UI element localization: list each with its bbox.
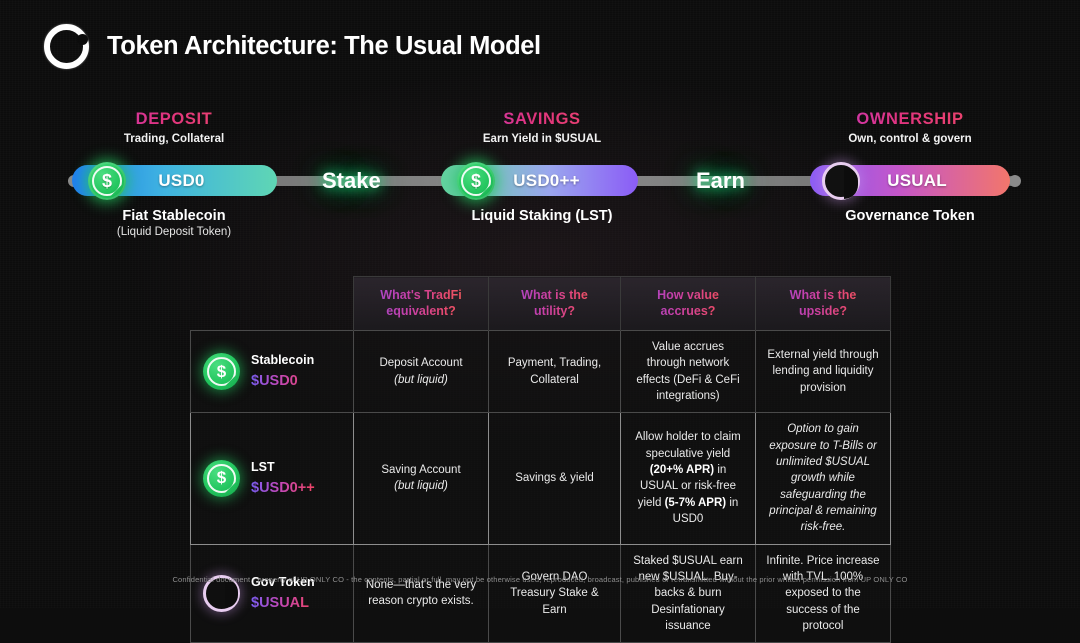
- stage-foot-deposit: Fiat Stablecoin (Liquid Deposit Token): [74, 208, 274, 238]
- usual-token-icon: [822, 162, 860, 200]
- table-cell-token-gov: Gov Token $USUAL: [191, 544, 354, 643]
- table-cell-tradfi: None—that's the very reason crypto exist…: [354, 544, 489, 643]
- stage-foot-main-deposit: Fiat Stablecoin: [74, 208, 274, 224]
- connector-label-earn: Earn: [696, 168, 745, 194]
- table-cell-upside: Option to gain exposure to T-Bills or un…: [756, 413, 891, 544]
- connector-label-stake: Stake: [322, 168, 381, 194]
- stage-head-savings: SAVINGS Earn Yield in $USUAL: [442, 110, 642, 145]
- stage-foot-main-ownership: Governance Token: [810, 208, 1010, 224]
- table-row: Gov Token $USUAL None—that's the very re…: [191, 544, 891, 643]
- table-header-tradfi: What's TradFi equivalent?: [354, 277, 489, 331]
- token-ticker: $USUAL: [251, 593, 315, 614]
- accrues-apr-2: (5-7% APR): [665, 497, 727, 509]
- table-header-utility: What is the utility?: [489, 277, 621, 331]
- table-cell-tradfi: Deposit Account (but liquid): [354, 331, 489, 413]
- stage-foot-sub-deposit: (Liquid Deposit Token): [74, 226, 274, 238]
- tradfi-line-1: Deposit Account: [364, 355, 478, 371]
- table-cell-utility: Payment, Trading, Collateral: [489, 331, 621, 413]
- token-ticker: $USD0++: [251, 478, 315, 499]
- tradfi-line-2: (but liquid): [364, 478, 478, 494]
- stage-foot-ownership: Governance Token: [810, 208, 1010, 224]
- accrues-apr-1: (20+% APR): [650, 464, 714, 476]
- stage-kicker-savings: SAVINGS: [442, 110, 642, 129]
- stage-subtitle-savings: Earn Yield in $USUAL: [442, 133, 642, 145]
- token-name: Stablecoin: [251, 352, 314, 370]
- stage-head-ownership: OWNERSHIP Own, control & govern: [810, 110, 1010, 145]
- confidentiality-footer: Confidential document - property of UP O…: [0, 575, 1080, 584]
- table-header-row: What's TradFi equivalent? What is the ut…: [191, 277, 891, 331]
- stage-foot-savings: Liquid Staking (LST): [442, 208, 642, 224]
- table-cell-upside: External yield through lending and liqui…: [756, 331, 891, 413]
- tradfi-line-2: (but liquid): [364, 372, 478, 388]
- token-ticker: $USD0: [251, 371, 314, 392]
- stage-kicker-deposit: DEPOSIT: [74, 110, 274, 129]
- page-header: Token Architecture: The Usual Model: [44, 24, 541, 69]
- stage-foot-main-savings: Liquid Staking (LST): [442, 208, 642, 224]
- accrues-text-1: Allow holder to claim speculative yield: [635, 431, 740, 459]
- table-cell-accrues: Staked $USUAL earn new $USUAL. Buy-backs…: [621, 544, 756, 643]
- table-header-spacer: [191, 277, 354, 331]
- table-row: $ LST $USD0++ Saving Account (but liquid…: [191, 413, 891, 544]
- dollar-coin-icon: $: [203, 353, 240, 390]
- table-cell-tradfi: Saving Account (but liquid): [354, 413, 489, 544]
- table-cell-upside: Infinite. Price increase with TVL. 100% …: [756, 544, 891, 643]
- stage-subtitle-deposit: Trading, Collateral: [74, 133, 274, 145]
- table-cell-accrues: Value accrues through network effects (D…: [621, 331, 756, 413]
- stage-head-deposit: DEPOSIT Trading, Collateral: [74, 110, 274, 145]
- table-cell-accrues: Allow holder to claim speculative yield …: [621, 413, 756, 544]
- dollar-coin-icon: $: [457, 162, 495, 200]
- comparison-table: What's TradFi equivalent? What is the ut…: [190, 276, 890, 643]
- usual-ring-logo-icon: [44, 24, 89, 69]
- table-header-accrues: How value accrues?: [621, 277, 756, 331]
- tradfi-line-2: reason crypto exists.: [364, 593, 478, 609]
- tradfi-line-1: Saving Account: [364, 462, 478, 478]
- stage-kicker-ownership: OWNERSHIP: [810, 110, 1010, 129]
- table-cell-token-lst: $ LST $USD0++: [191, 413, 354, 544]
- table-cell-token-stablecoin: $ Stablecoin $USD0: [191, 331, 354, 413]
- table-cell-utility: Govern DAO Treasury Stake & Earn: [489, 544, 621, 643]
- table-row: $ Stablecoin $USD0 Deposit Account (but …: [191, 331, 891, 413]
- stage-subtitle-ownership: Own, control & govern: [810, 133, 1010, 145]
- page-title: Token Architecture: The Usual Model: [107, 32, 541, 61]
- table-header-upside: What is the upside?: [756, 277, 891, 331]
- token-name: LST: [251, 459, 315, 477]
- dollar-coin-icon: $: [203, 460, 240, 497]
- dollar-coin-icon: $: [88, 162, 126, 200]
- table-cell-utility: Savings & yield: [489, 413, 621, 544]
